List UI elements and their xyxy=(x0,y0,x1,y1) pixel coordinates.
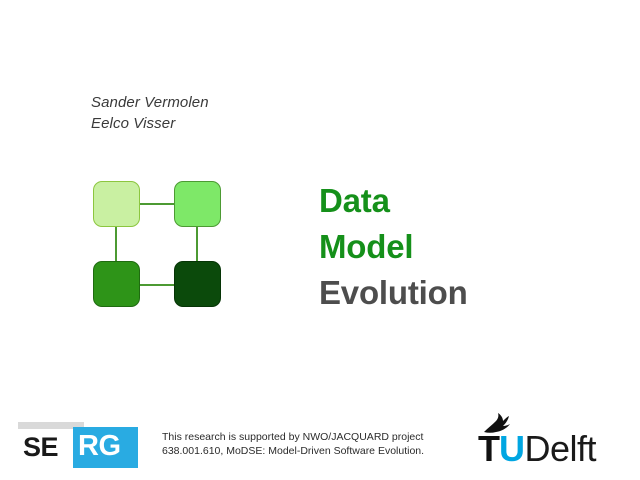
tu-delft-logo: TUDelft xyxy=(478,412,628,470)
funding-acknowledgement: This research is supported by NWO/JACQUA… xyxy=(162,430,462,458)
tu-delft-wordmark: TUDelft xyxy=(478,429,596,469)
tu-delft-word-delft: Delft xyxy=(525,428,597,469)
four-square-model-diagram xyxy=(93,181,228,311)
connector-right-vertical xyxy=(196,226,198,262)
model-node-bottom-right xyxy=(174,261,221,307)
model-node-bottom-left xyxy=(93,261,140,307)
funding-note-line-2: 638.001.610, MoDSE: Model-Driven Softwar… xyxy=(162,444,462,458)
presentation-slide: Sander Vermolen Eelco Visser Data Model … xyxy=(0,0,640,480)
model-node-top-left xyxy=(93,181,140,227)
serg-logo-text-se: SE xyxy=(23,432,58,462)
title-line-data: Data xyxy=(319,178,468,224)
tu-delft-letter-u: U xyxy=(499,428,525,469)
connector-bottom-horizontal xyxy=(139,284,175,286)
tu-delft-letter-t: T xyxy=(478,428,499,469)
title-line-model: Model xyxy=(319,224,468,270)
connector-left-vertical xyxy=(115,226,117,262)
title-line-evolution: Evolution xyxy=(319,270,468,316)
connector-top-horizontal xyxy=(139,203,175,205)
model-node-top-right xyxy=(174,181,221,227)
slide-title: Data Model Evolution xyxy=(319,178,468,316)
author-name-primary: Sander Vermolen xyxy=(91,92,209,113)
author-name-secondary: Eelco Visser xyxy=(91,113,209,134)
author-list: Sander Vermolen Eelco Visser xyxy=(91,92,209,134)
funding-note-line-1: This research is supported by NWO/JACQUA… xyxy=(162,430,462,444)
serg-logo: SE RG xyxy=(18,422,138,470)
serg-logo-text-rg: RG xyxy=(78,430,121,462)
